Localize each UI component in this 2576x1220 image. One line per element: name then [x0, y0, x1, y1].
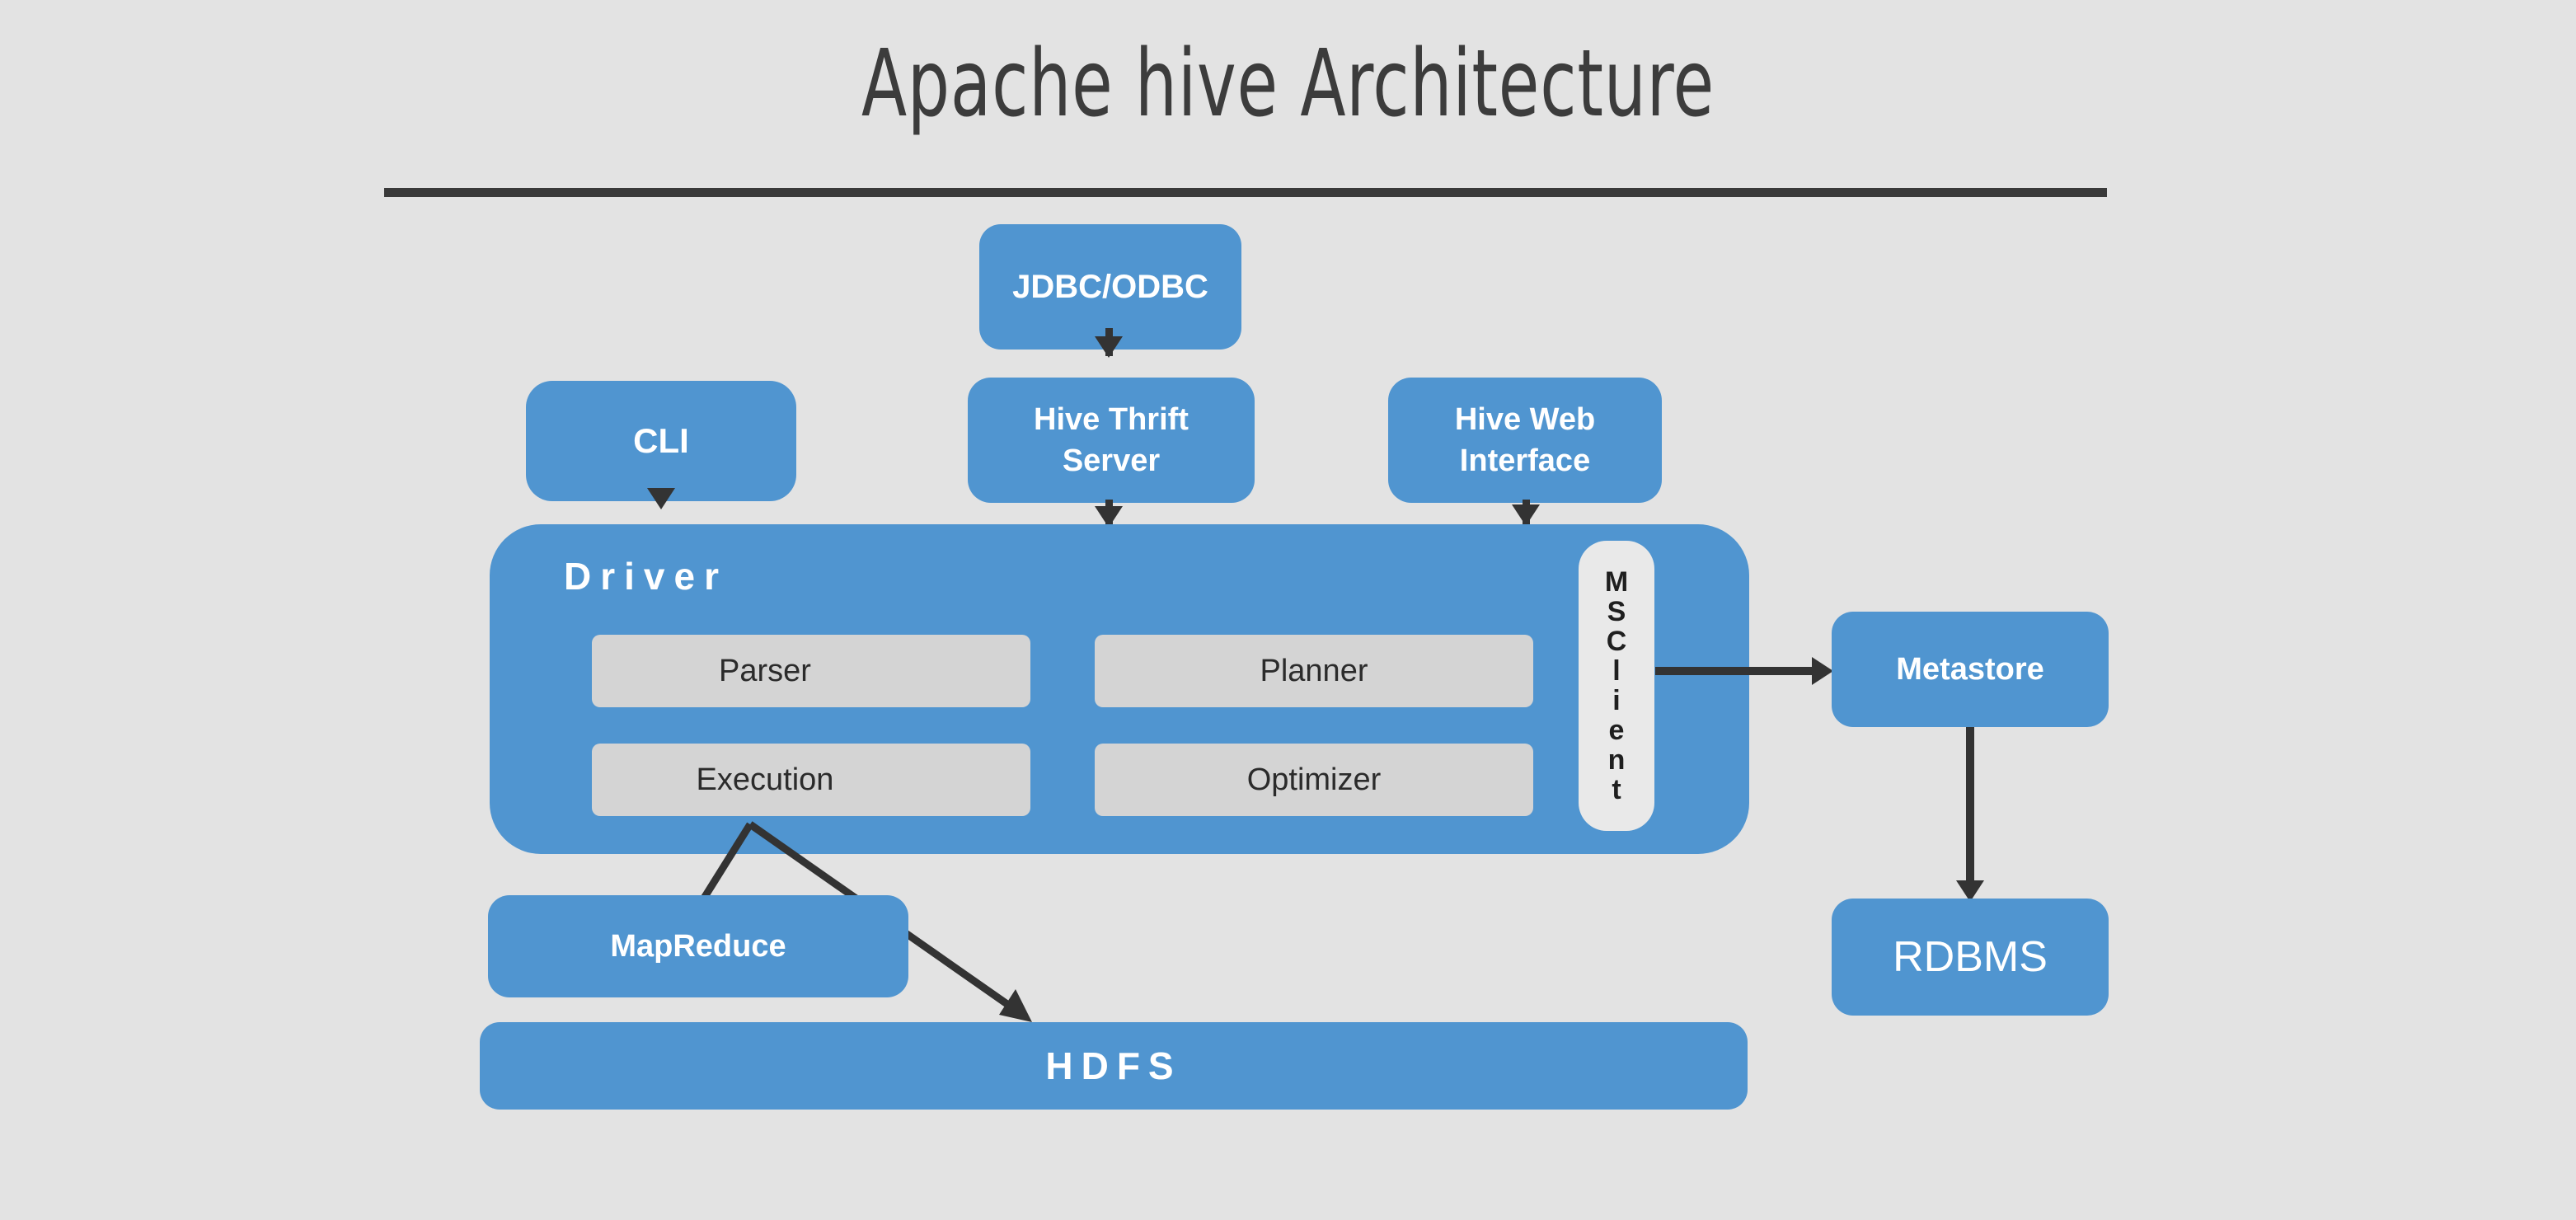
- node-hdfs-label: HDFS: [1045, 1044, 1181, 1088]
- msclient-char-3: l: [1612, 656, 1620, 686]
- edge-msclient-to-metastore-arrowhead: [1812, 657, 1833, 685]
- subbox-optimizer-label: Optimizer: [1247, 762, 1382, 798]
- subbox-execution[interactable]: Execution: [592, 744, 1030, 816]
- msclient-char-7: t: [1612, 775, 1621, 805]
- node-mapreduce-label: MapReduce: [610, 929, 786, 964]
- subbox-optimizer[interactable]: Optimizer: [1095, 744, 1533, 816]
- node-metastore-label: Metastore: [1896, 652, 2044, 687]
- subbox-msclient[interactable]: M S C l i e n t: [1579, 541, 1654, 831]
- node-hive-thrift-server[interactable]: Hive Thrift Server: [968, 378, 1255, 503]
- edge-metastore-to-rdbms-line: [1966, 727, 1974, 895]
- node-hive-thrift-server-label-line1: Hive Thrift: [1034, 399, 1189, 440]
- node-cli[interactable]: CLI: [526, 381, 796, 501]
- subbox-planner[interactable]: Planner: [1095, 635, 1533, 707]
- subbox-execution-label: Execution: [697, 762, 834, 798]
- msclient-char-5: e: [1609, 716, 1625, 745]
- subbox-parser-label: Parser: [719, 654, 811, 689]
- node-metastore[interactable]: Metastore: [1832, 612, 2109, 727]
- node-hive-web-interface[interactable]: Hive Web Interface: [1388, 378, 1662, 503]
- subbox-parser[interactable]: Parser: [592, 635, 1030, 707]
- node-driver-label: Driver: [564, 554, 728, 598]
- diagram-canvas: Apache hive Architecture JDBC/ODBC CLI H…: [0, 0, 2576, 1220]
- node-hive-web-interface-label-line2: Interface: [1460, 440, 1590, 481]
- msclient-char-0: M: [1605, 567, 1628, 597]
- node-cli-label: CLI: [633, 421, 689, 461]
- edge-hwi-to-driver-arrowhead: [1512, 504, 1540, 526]
- node-hive-web-interface-label-line1: Hive Web: [1455, 399, 1595, 440]
- node-rdbms[interactable]: RDBMS: [1832, 899, 2109, 1016]
- msclient-char-6: n: [1608, 745, 1626, 775]
- edge-jdbc-to-thrift-arrowhead: [1095, 336, 1123, 358]
- page-title: Apache hive Architecture: [258, 36, 2319, 134]
- node-jdbc-odbc-label: JDBC/ODBC: [1012, 269, 1208, 306]
- title-underline: [384, 188, 2107, 197]
- edge-cli-to-driver-arrowhead: [647, 488, 675, 509]
- node-hdfs[interactable]: HDFS: [480, 1022, 1748, 1110]
- node-hive-thrift-server-label-line2: Server: [1063, 440, 1160, 481]
- msclient-char-2: C: [1607, 626, 1627, 656]
- msclient-char-4: i: [1612, 686, 1620, 716]
- msclient-char-1: S: [1607, 597, 1626, 626]
- edge-msclient-to-metastore-line: [1655, 667, 1820, 675]
- subbox-planner-label: Planner: [1260, 654, 1368, 689]
- node-mapreduce[interactable]: MapReduce: [488, 895, 908, 997]
- node-rdbms-label: RDBMS: [1893, 932, 2048, 982]
